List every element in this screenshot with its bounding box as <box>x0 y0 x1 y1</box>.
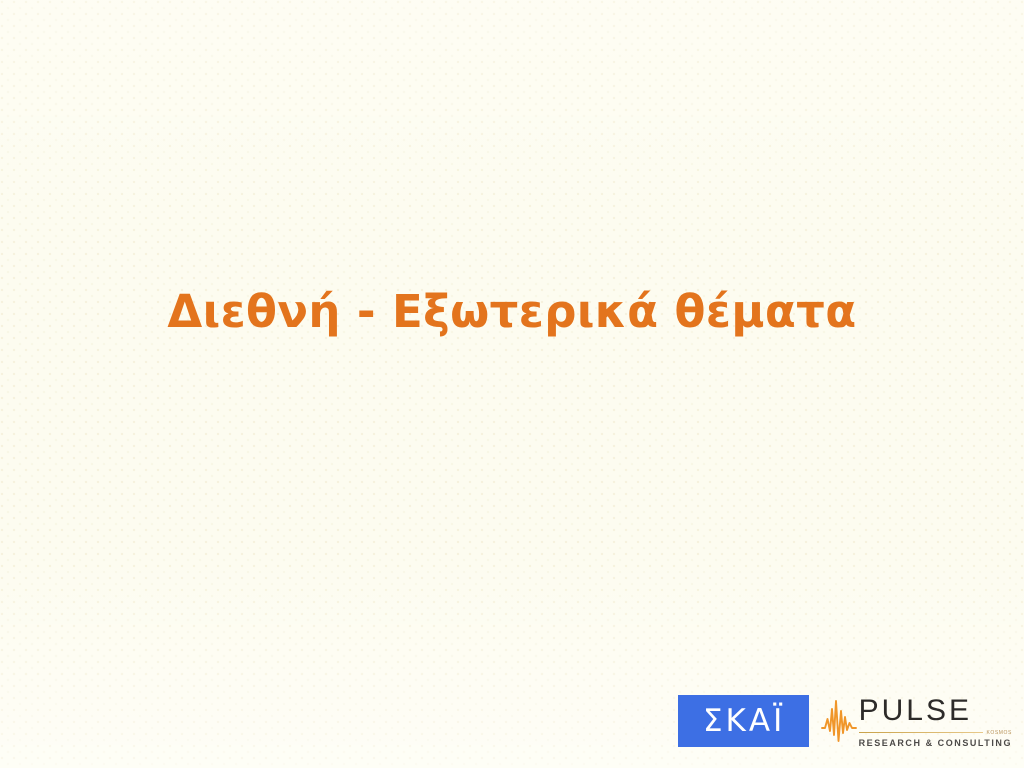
skai-wordmark: ΣΚΑΪ <box>701 706 785 737</box>
pulse-text-column: PULSE KOSMOS RESEARCH & CONSULTING <box>859 695 1012 748</box>
pulse-wordmark: PULSE <box>859 696 1012 726</box>
logo-strip: ΣΚΑΪ PULSE KOSMOS RESEARCH & CONSULTING <box>678 690 1012 752</box>
page-title: Διεθνή - Εξωτερικά θέματα <box>167 286 856 338</box>
presentation-slide: Διεθνή - Εξωτερικά θέματα ΣΚΑΪ PULSE KOS… <box>0 0 1024 768</box>
title-block: Διεθνή - Εξωτερικά θέματα <box>0 286 1024 338</box>
pulse-logo: PULSE KOSMOS RESEARCH & CONSULTING <box>821 693 1012 749</box>
pulse-divider-rule <box>859 732 984 733</box>
pulse-sub-label: KOSMOS <box>986 731 1012 736</box>
pulse-waveform-icon <box>821 697 857 745</box>
pulse-tagline: RESEARCH & CONSULTING <box>859 739 1012 748</box>
pulse-sub-row: KOSMOS <box>859 728 1012 736</box>
skai-logo: ΣΚΑΪ <box>678 695 809 747</box>
